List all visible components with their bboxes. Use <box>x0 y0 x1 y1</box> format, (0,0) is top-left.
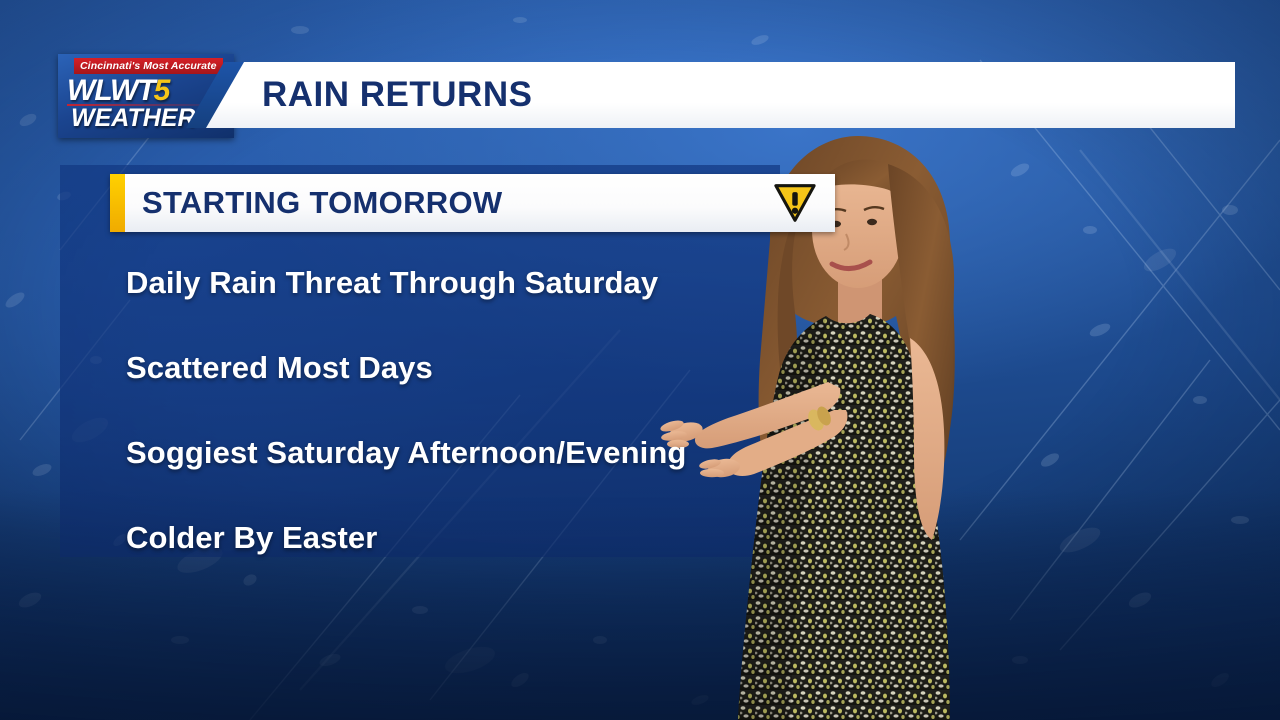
list-item: Colder By Easter <box>126 495 826 580</box>
forecast-points-list: Daily Rain Threat Through Saturday Scatt… <box>126 240 826 580</box>
station-department: WEATHER <box>71 104 196 133</box>
station-tagline: Cincinnati's Most Accurate <box>74 58 223 74</box>
broadcast-screen: Cincinnati's Most Accurate WLWT 5 WEATHE… <box>0 0 1280 720</box>
station-callsign: WLWT <box>67 74 155 108</box>
station-channel-number: 5 <box>154 74 171 108</box>
station-callsign-group: WLWT 5 <box>67 74 170 108</box>
page-title: RAIN RETURNS <box>262 62 532 128</box>
warning-triangle-icon <box>773 183 817 223</box>
subheader-accent-bar <box>110 174 125 232</box>
list-item: Soggiest Saturday Afternoon/Evening <box>126 410 826 495</box>
subheader-bar: STARTING TOMORROW <box>110 174 835 232</box>
subheader-title: STARTING TOMORROW <box>142 185 502 221</box>
list-item: Daily Rain Threat Through Saturday <box>126 240 826 325</box>
list-item: Scattered Most Days <box>126 325 826 410</box>
